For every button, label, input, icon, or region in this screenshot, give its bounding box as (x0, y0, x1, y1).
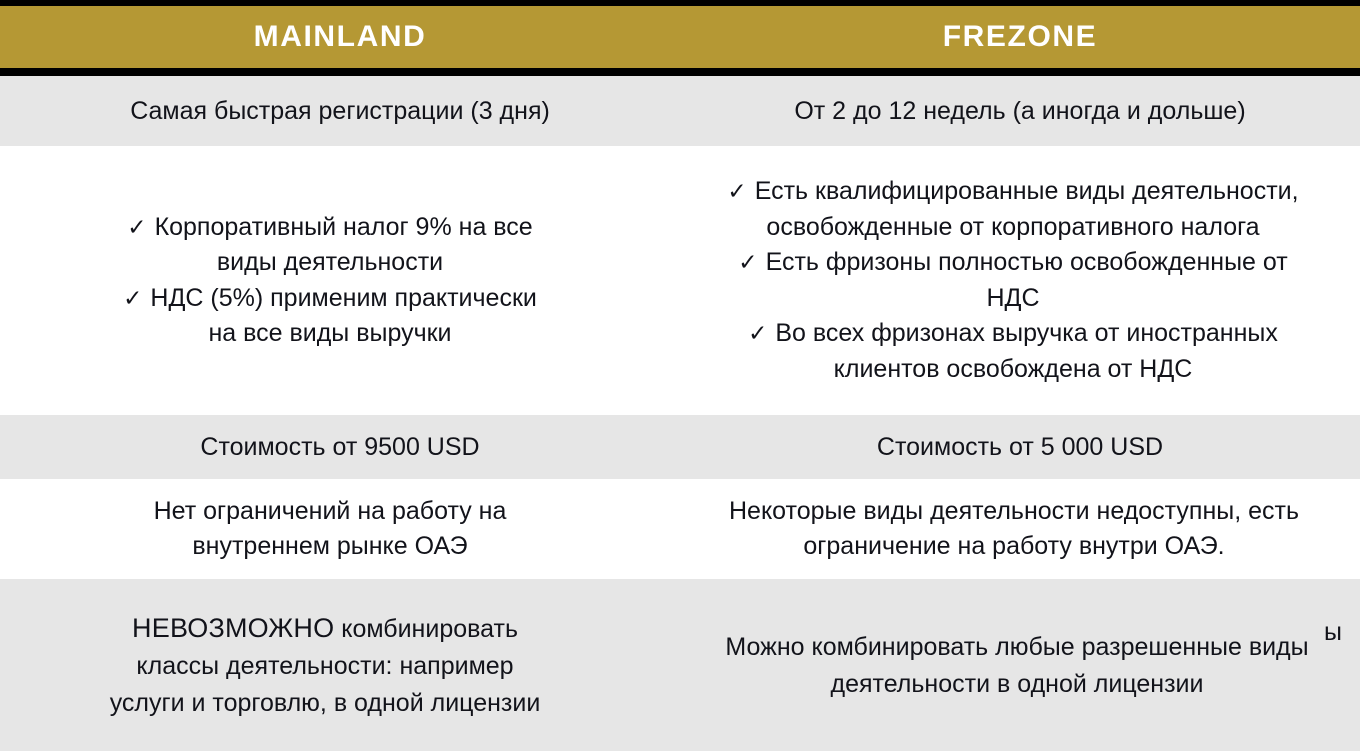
table-row: Самая быстрая регистрации (3 дня) От 2 д… (0, 76, 1360, 146)
table-row: НЕВОЗМОЖНО комбинировать классы деятельн… (0, 579, 1360, 751)
column-header-mainland-label: MAINLAND (254, 22, 427, 52)
overflow-text-fragment: ы (1324, 620, 1342, 645)
cell-line: Некоторые виды деятельности недоступны, … (704, 494, 1324, 529)
column-header-frezone: FREZONE (680, 6, 1360, 68)
cell-line: НЕВОЗМОЖНО комбинировать (40, 609, 610, 649)
emphasised-text: НЕВОЗМОЖНО (132, 613, 334, 643)
cell-frezone-cost: Стоимость от 5 000 USD (680, 415, 1360, 479)
cell-line: ограничение на работу внутри ОАЭ. (704, 529, 1324, 564)
header-black-rule (0, 68, 1360, 76)
cell-line: освобожденные от корпоративного налога (696, 210, 1330, 246)
cell-line: виды деятельности (56, 245, 604, 281)
cell-line: классы деятельности: например (40, 648, 610, 685)
cell-line: Можно комбинировать любые разрешенные ви… (714, 629, 1320, 666)
cell-line: Стоимость от 9500 USD (30, 431, 650, 464)
column-header-mainland: MAINLAND (0, 6, 680, 68)
cell-mainland-taxes: Корпоративный налог 9% на все виды деяте… (0, 146, 680, 415)
table-row: Корпоративный налог 9% на все виды деяте… (0, 146, 1360, 415)
cell-line-bullet: Корпоративный налог 9% на все (56, 210, 604, 246)
cell-line: клиентов освобождена от НДС (696, 352, 1330, 388)
cell-line: деятельности в одной лицензии (714, 666, 1320, 703)
cell-mainland-activity-combination: НЕВОЗМОЖНО комбинировать классы деятельн… (0, 579, 680, 751)
table-row: Нет ограничений на работу на внутреннем … (0, 479, 1360, 579)
cell-frezone-taxes: Есть квалифицированные виды деятельности… (680, 146, 1360, 415)
comparison-table-page: MAINLAND FREZONE Самая быстрая регистрац… (0, 0, 1360, 751)
table-row: Стоимость от 9500 USD Стоимость от 5 000… (0, 415, 1360, 479)
cell-line: Самая быстрая регистрации (3 дня) (30, 95, 650, 128)
cell-frezone-market-access: Некоторые виды деятельности недоступны, … (680, 479, 1360, 579)
cell-line: Нет ограничений на работу на (56, 494, 604, 529)
cell-mainland-registration: Самая быстрая регистрации (3 дня) (0, 76, 680, 146)
cell-line: внутреннем рынке ОАЭ (56, 529, 604, 564)
table-header-band: MAINLAND FREZONE (0, 6, 1360, 68)
column-header-frezone-label: FREZONE (943, 22, 1098, 52)
table-body: Самая быстрая регистрации (3 дня) От 2 д… (0, 76, 1360, 751)
cell-line-bullet: НДС (5%) применим практически (56, 281, 604, 317)
cell-frezone-registration: От 2 до 12 недель (а иногда и дольше) (680, 76, 1360, 146)
cell-line: НДС (696, 281, 1330, 317)
cell-line: услуги и торговлю, в одной лицензии (40, 685, 610, 722)
cell-mainland-market-access: Нет ограничений на работу на внутреннем … (0, 479, 680, 579)
cell-line: на все виды выручки (56, 316, 604, 352)
cell-line-bullet: Есть квалифицированные виды деятельности… (696, 174, 1330, 210)
cell-line-bullet: Во всех фризонах выручка от иностранных (696, 316, 1330, 352)
cell-frezone-activity-combination: Можно комбинировать любые разрешенные ви… (680, 579, 1360, 751)
cell-line-bullet: Есть фризоны полностью освобожденные от (696, 245, 1330, 281)
cell-line: Стоимость от 5 000 USD (706, 431, 1334, 464)
cell-line: От 2 до 12 недель (а иногда и дольше) (706, 95, 1334, 128)
cell-mainland-cost: Стоимость от 9500 USD (0, 415, 680, 479)
